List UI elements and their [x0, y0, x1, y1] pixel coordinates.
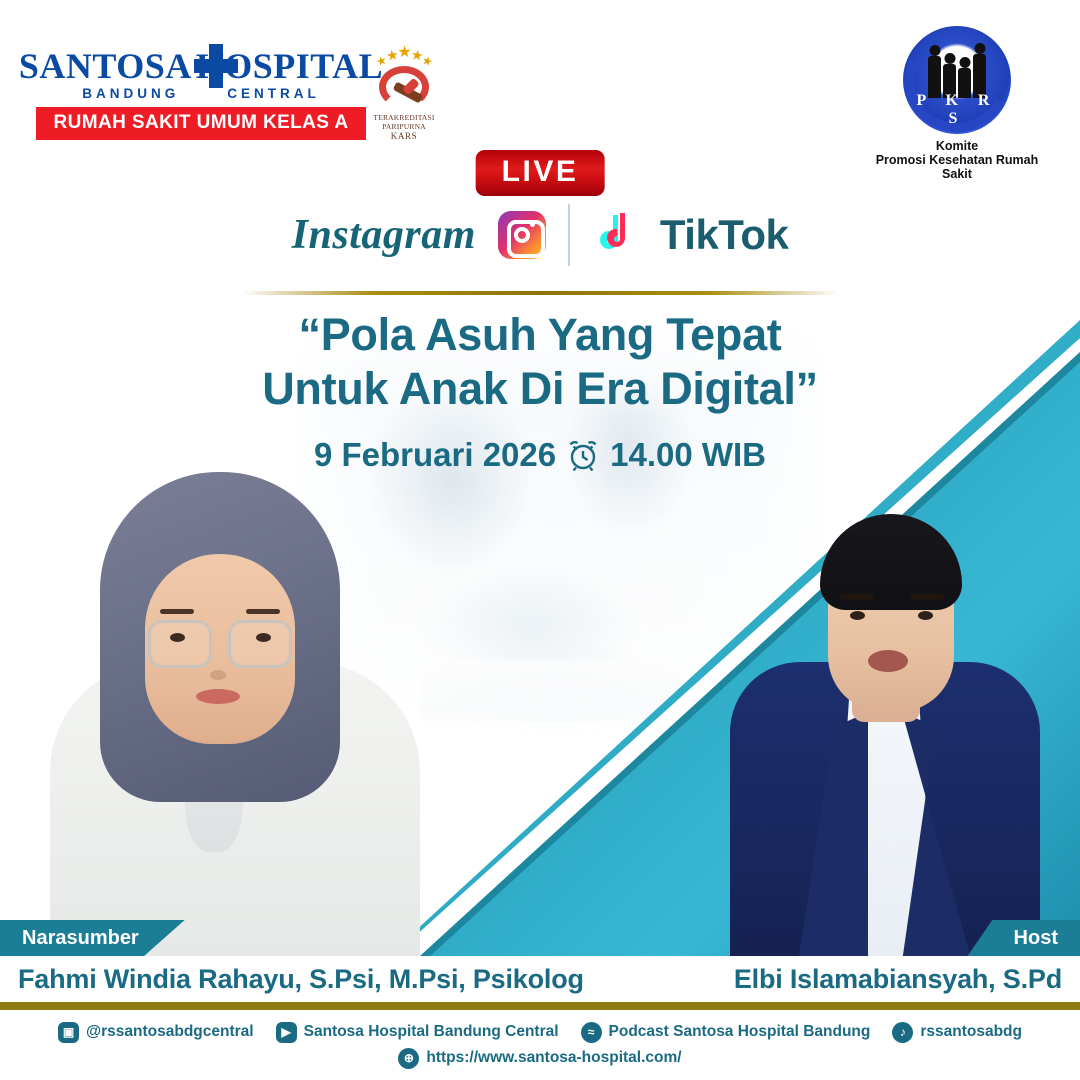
pkrs-circle-icon: P K R S	[903, 26, 1011, 134]
host-role-tag: Host	[968, 920, 1080, 956]
hospital-class-banner: RUMAH SAKIT UMUM KELAS A	[36, 107, 366, 140]
tiktok-wordmark: TikTok	[660, 211, 788, 259]
footer-website-row: ⊕ https://www.santosa-hospital.com/	[398, 1048, 681, 1069]
narasumber-role-tag: Narasumber	[0, 920, 185, 956]
hospital-logo: SANTOSA HOSPITAL BANDUNG CENTRAL RUMAH S…	[36, 44, 366, 140]
kars-accreditation-logo: ★★★★★ TERAKREDITASI PARIPURNA KARS	[360, 48, 448, 141]
page-title: “Pola Asuh Yang Tepat Untuk Anak Di Era …	[0, 308, 1080, 416]
social-tiktok-label: rssantosabdg	[920, 1023, 1022, 1041]
pkrs-acronym-text: P K R S	[903, 92, 1011, 128]
narasumber-photo	[20, 472, 450, 992]
logo-santosa-text: SANTOSA	[19, 48, 192, 84]
youtube-icon: ▶	[276, 1022, 297, 1043]
live-badge: LIVE	[476, 150, 605, 196]
alarm-clock-icon	[566, 438, 600, 472]
kars-line2-text: KARS	[360, 131, 448, 141]
social-youtube[interactable]: ▶ Santosa Hospital Bandung Central	[276, 1022, 559, 1043]
platform-divider	[568, 204, 570, 266]
title-line-2: Untuk Anak Di Era Digital”	[0, 362, 1080, 416]
pkrs-caption-line2: Promosi Kesehatan Rumah Sakit	[862, 153, 1052, 181]
instagram-wordmark: Instagram	[292, 211, 476, 259]
footer-social-row: ▣ @rssantosabdgcentral ▶ Santosa Hospita…	[58, 1022, 1022, 1043]
host-name: Elbi Islamabiansyah, S.Pd	[734, 964, 1062, 995]
kars-q-icon	[373, 66, 435, 112]
tiktok-note-icon	[592, 210, 638, 260]
narasumber-name: Fahmi Windia Rahayu, S.Psi, M.Psi, Psiko…	[18, 964, 584, 995]
kars-stars-icon: ★★★★★	[360, 48, 448, 64]
logo-central-text: CENTRAL	[227, 86, 320, 101]
instagram-icon	[498, 211, 546, 259]
social-tiktok[interactable]: ♪ rssantosabdg	[892, 1022, 1022, 1043]
logo-bandung-text: BANDUNG	[82, 86, 179, 101]
social-spotify[interactable]: ≈ Podcast Santosa Hospital Bandung	[581, 1022, 871, 1043]
social-instagram[interactable]: ▣ @rssantosabdgcentral	[58, 1022, 254, 1043]
platform-row: Instagram TikTok	[0, 204, 1080, 266]
gold-bar	[0, 1002, 1080, 1010]
social-youtube-label: Santosa Hospital Bandung Central	[304, 1023, 559, 1041]
gold-divider	[240, 291, 840, 295]
website-link[interactable]: ⊕ https://www.santosa-hospital.com/	[398, 1048, 681, 1069]
social-spotify-label: Podcast Santosa Hospital Bandung	[609, 1023, 871, 1041]
footer: ▣ @rssantosabdgcentral ▶ Santosa Hospita…	[0, 1010, 1080, 1080]
website-label: https://www.santosa-hospital.com/	[426, 1049, 681, 1067]
kars-line1-text: TERAKREDITASI PARIPURNA	[360, 113, 448, 131]
social-instagram-label: @rssantosabdgcentral	[86, 1023, 254, 1041]
instagram-icon: ▣	[58, 1022, 79, 1043]
event-datetime: 9 Februari 2026 14.00 WIB	[0, 436, 1080, 474]
event-time: 14.00 WIB	[610, 436, 766, 474]
tiktok-icon: ♪	[892, 1022, 913, 1043]
speaker-namebars: Narasumber Host Fahmi Windia Rahayu, S.P…	[0, 920, 1080, 1002]
host-photo	[720, 492, 1050, 992]
pkrs-logo: P K R S Komite Promosi Kesehatan Rumah S…	[862, 26, 1052, 181]
pkrs-caption-line1: Komite	[862, 139, 1052, 153]
live-event-poster: SANTOSA HOSPITAL BANDUNG CENTRAL RUMAH S…	[0, 0, 1080, 1080]
event-date: 9 Februari 2026	[314, 436, 556, 474]
title-line-1: “Pola Asuh Yang Tepat	[0, 308, 1080, 362]
globe-icon: ⊕	[398, 1048, 419, 1069]
spotify-icon: ≈	[581, 1022, 602, 1043]
